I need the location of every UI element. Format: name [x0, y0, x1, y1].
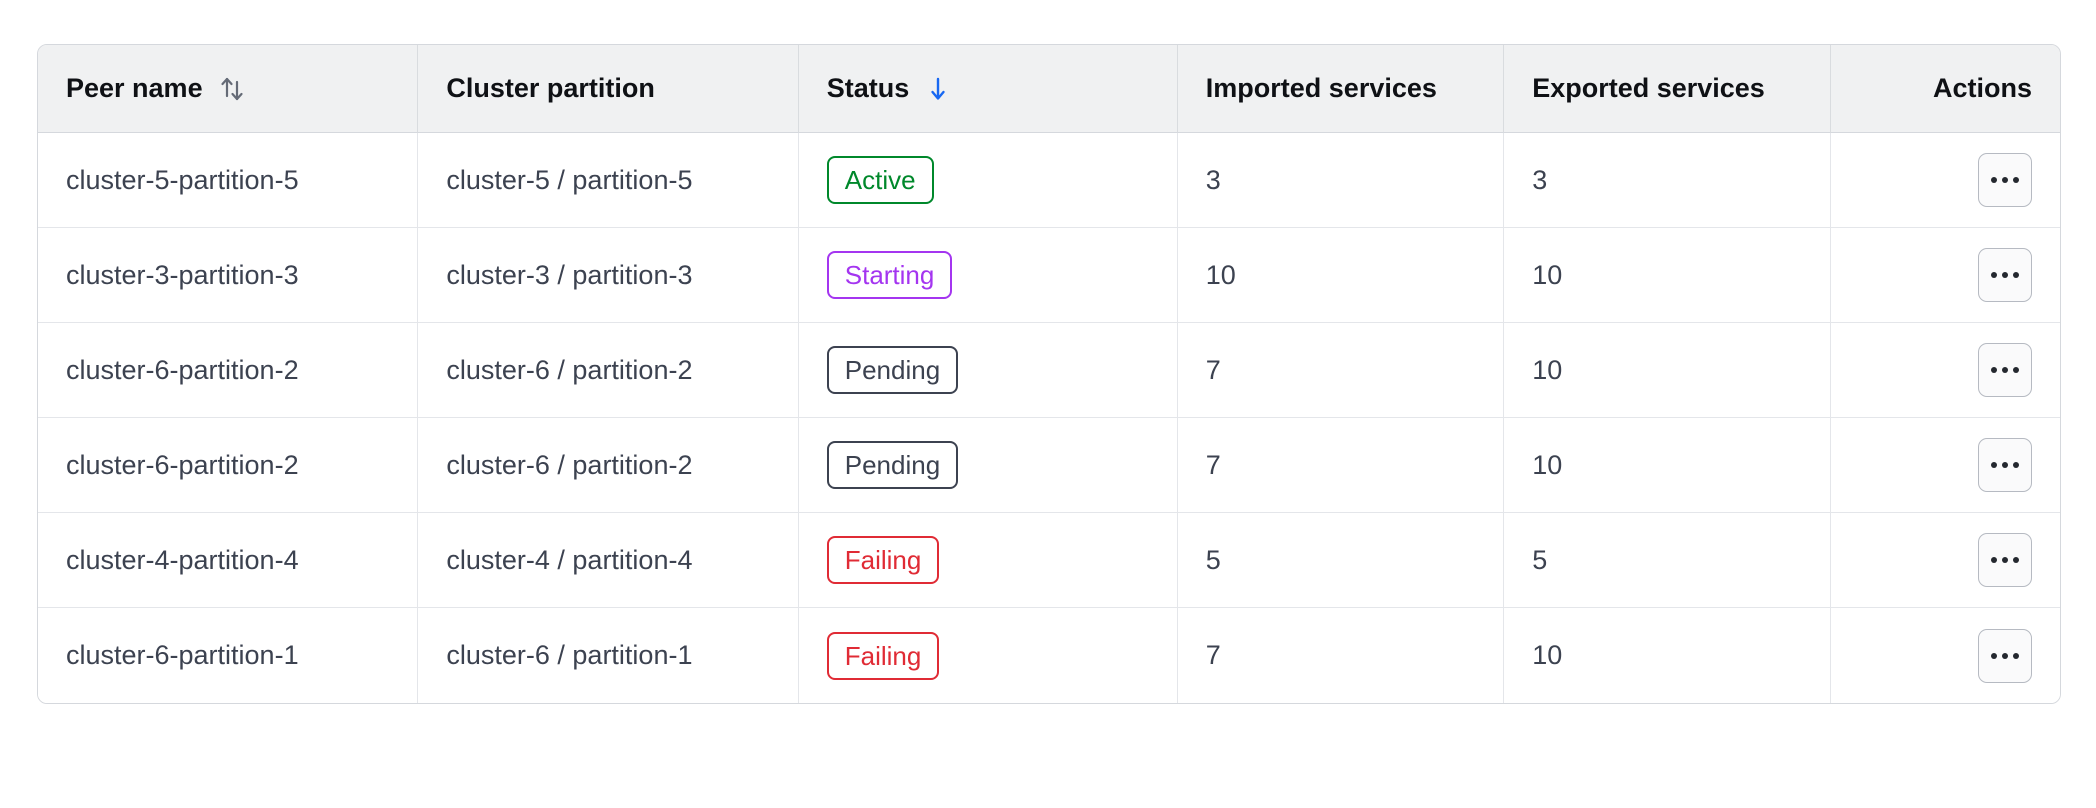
- table-body: cluster-5-partition-5 cluster-5 / partit…: [38, 133, 2060, 703]
- cell-exported-services: 10: [1504, 608, 1830, 703]
- table-row: cluster-6-partition-2 cluster-6 / partit…: [38, 418, 2060, 513]
- row-actions-menu-button[interactable]: [1978, 153, 2032, 207]
- cell-actions: [1831, 133, 2060, 228]
- cell-exported-services: 10: [1504, 323, 1830, 418]
- cell-cluster-partition: cluster-6 / partition-1: [418, 608, 798, 703]
- table-row: cluster-6-partition-1 cluster-6 / partit…: [38, 608, 2060, 703]
- table-header-row: Peer name: [38, 45, 2060, 133]
- peers-table: Peer name: [37, 44, 2061, 704]
- table-row: cluster-5-partition-5 cluster-5 / partit…: [38, 133, 2060, 228]
- cell-peer-name: cluster-6-partition-2: [38, 418, 418, 513]
- cell-peer-name: cluster-6-partition-1: [38, 608, 418, 703]
- ellipsis-icon: [1991, 557, 2019, 563]
- cell-imported-services: 7: [1178, 418, 1504, 513]
- cell-status: Starting: [799, 228, 1178, 323]
- row-actions-menu-button[interactable]: [1978, 438, 2032, 492]
- column-header-label-status: Status: [827, 73, 910, 104]
- column-header-imported-services[interactable]: Imported services: [1178, 45, 1504, 133]
- column-header-label-imported-services: Imported services: [1206, 73, 1437, 104]
- cell-imported-services: 3: [1178, 133, 1504, 228]
- column-header-label-exported-services: Exported services: [1532, 73, 1765, 104]
- cell-peer-name: cluster-3-partition-3: [38, 228, 418, 323]
- cell-actions: [1831, 228, 2060, 323]
- cell-cluster-partition: cluster-4 / partition-4: [418, 513, 798, 608]
- column-header-label-cluster-partition: Cluster partition: [446, 73, 655, 104]
- cell-exported-services: 10: [1504, 418, 1830, 513]
- cell-exported-services: 5: [1504, 513, 1830, 608]
- cell-peer-name: cluster-6-partition-2: [38, 323, 418, 418]
- row-actions-menu-button[interactable]: [1978, 343, 2032, 397]
- page-root: Peer name: [0, 0, 2096, 808]
- column-header-exported-services[interactable]: Exported services: [1504, 45, 1830, 133]
- status-badge: Pending: [827, 441, 958, 489]
- cell-imported-services: 7: [1178, 323, 1504, 418]
- cell-imported-services: 10: [1178, 228, 1504, 323]
- cell-peer-name: cluster-5-partition-5: [38, 133, 418, 228]
- cell-imported-services: 5: [1178, 513, 1504, 608]
- cell-cluster-partition: cluster-5 / partition-5: [418, 133, 798, 228]
- table-row: cluster-6-partition-2 cluster-6 / partit…: [38, 323, 2060, 418]
- cell-peer-name: cluster-4-partition-4: [38, 513, 418, 608]
- cell-actions: [1831, 418, 2060, 513]
- column-header-label-peer-name: Peer name: [66, 73, 203, 104]
- cell-status: Failing: [799, 513, 1178, 608]
- cell-status: Pending: [799, 418, 1178, 513]
- status-badge: Failing: [827, 632, 940, 680]
- ellipsis-icon: [1991, 653, 2019, 659]
- column-header-cluster-partition[interactable]: Cluster partition: [418, 45, 798, 133]
- cell-imported-services: 7: [1178, 608, 1504, 703]
- ellipsis-icon: [1991, 462, 2019, 468]
- table-row: cluster-3-partition-3 cluster-3 / partit…: [38, 228, 2060, 323]
- cell-exported-services: 3: [1504, 133, 1830, 228]
- cell-cluster-partition: cluster-3 / partition-3: [418, 228, 798, 323]
- row-actions-menu-button[interactable]: [1978, 629, 2032, 683]
- cell-exported-services: 10: [1504, 228, 1830, 323]
- status-badge: Pending: [827, 346, 958, 394]
- cell-cluster-partition: cluster-6 / partition-2: [418, 418, 798, 513]
- sort-both-arrows-icon[interactable]: [219, 74, 245, 104]
- cell-status: Active: [799, 133, 1178, 228]
- sort-arrow-down-icon[interactable]: [925, 74, 951, 104]
- table-row: cluster-4-partition-4 cluster-4 / partit…: [38, 513, 2060, 608]
- table-header: Peer name: [38, 45, 2060, 133]
- cell-actions: [1831, 323, 2060, 418]
- cell-cluster-partition: cluster-6 / partition-2: [418, 323, 798, 418]
- cell-actions: [1831, 608, 2060, 703]
- ellipsis-icon: [1991, 367, 2019, 373]
- cell-actions: [1831, 513, 2060, 608]
- peers-table-container: Peer name: [37, 44, 2061, 704]
- column-header-label-actions: Actions: [1933, 73, 2032, 104]
- row-actions-menu-button[interactable]: [1978, 248, 2032, 302]
- ellipsis-icon: [1991, 272, 2019, 278]
- column-header-peer-name[interactable]: Peer name: [38, 45, 418, 133]
- column-header-actions: Actions: [1831, 45, 2060, 133]
- column-header-status[interactable]: Status: [799, 45, 1178, 133]
- cell-status: Pending: [799, 323, 1178, 418]
- status-badge: Active: [827, 156, 934, 204]
- ellipsis-icon: [1991, 177, 2019, 183]
- cell-status: Failing: [799, 608, 1178, 703]
- status-badge: Starting: [827, 251, 953, 299]
- status-badge: Failing: [827, 536, 940, 584]
- row-actions-menu-button[interactable]: [1978, 533, 2032, 587]
